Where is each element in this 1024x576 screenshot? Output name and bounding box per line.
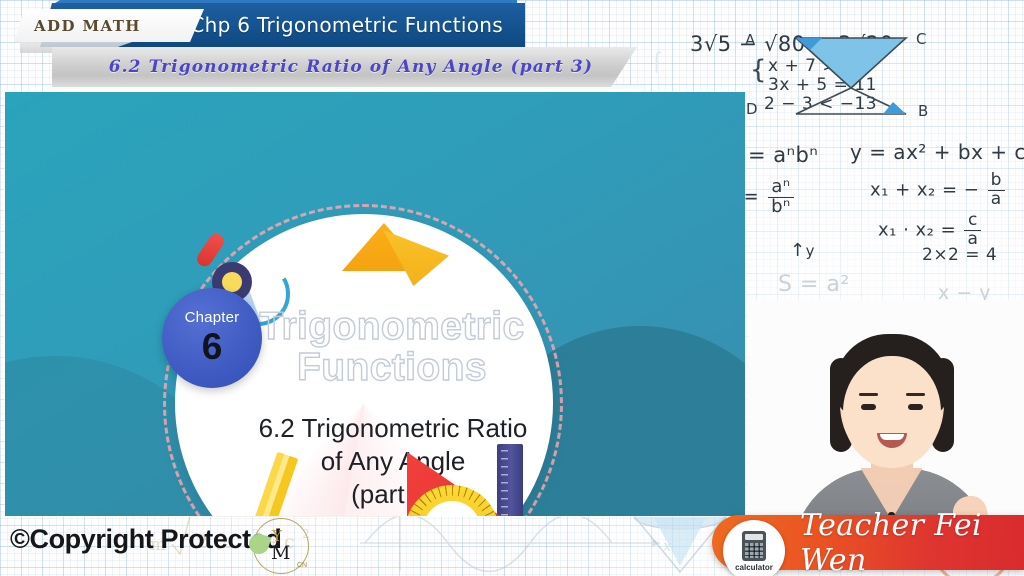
teacher-eye-left xyxy=(861,404,876,410)
logo-sub-text: CN xyxy=(297,562,307,569)
section-banner: 6.2 Trigonometric Ratio of Any Angle (pa… xyxy=(52,47,637,87)
hollow-title-line1: Trigonometric xyxy=(227,307,557,348)
copyright-text: ©Copyright Protected xyxy=(10,524,281,555)
calculator-label: calculator xyxy=(735,563,773,572)
teacher-brow-right xyxy=(906,393,925,396)
header-banners: Chp 6 Trigonometric Functions ADD MATH 6… xyxy=(0,0,700,92)
calculator-badge[interactable]: calculator xyxy=(723,520,785,576)
bg-math-sum-roots: x₁ + x₂ = − b a xyxy=(870,172,1007,209)
calculator-icon xyxy=(742,531,766,561)
teacher-brow-left xyxy=(859,393,878,396)
screen-root: 3√5 − √80 + 3√20 { x + 7 > 6 3x + 5 = 11… xyxy=(0,0,1024,576)
solid-title-line1: 6.2 Trigonometric Ratio xyxy=(213,412,573,445)
triangle-label-b: B xyxy=(918,102,928,120)
section-title: 6.2 Trigonometric Ratio of Any Angle (pa… xyxy=(109,57,593,77)
teacher-eye-right xyxy=(908,404,923,410)
calculator-keys xyxy=(745,543,763,558)
triangle-label-c: C xyxy=(916,30,926,48)
teacher-video-feed[interactable] xyxy=(748,300,1024,532)
triangle-label-d: D xyxy=(746,100,758,118)
ym-logo: Y M CN xyxy=(253,518,309,574)
teacher-name-label: Teacher Fei Wen xyxy=(800,508,1024,576)
triangle-label-a: A xyxy=(745,31,755,49)
slide-hollow-title: Trigonometric Functions xyxy=(227,307,557,388)
chapter-badge-number: 6 xyxy=(202,328,223,365)
teacher-name-badge[interactable]: calculator Teacher Fei Wen xyxy=(712,515,1024,570)
calculator-screen xyxy=(745,534,763,540)
logo-letter-m: M xyxy=(271,542,290,564)
hourglass-triangles-figure xyxy=(788,30,914,122)
bg-math-arith: 2×2 = 4 xyxy=(922,245,997,265)
slide-canvas[interactable]: Chapter 6 Trigonometric Functions 6.2 Tr… xyxy=(5,92,745,516)
subject-tab-label: ADD MATH xyxy=(14,17,141,35)
bg-math-quotient-rule: = aⁿ bⁿ xyxy=(742,178,796,217)
bg-math-y-axis-arrow: ↑y xyxy=(790,240,815,261)
ruler-navy-icon xyxy=(497,444,523,516)
bg-math-quadratic: y = ax² + bx + c xyxy=(850,140,1024,164)
bg-math-area-formula: S = a² xyxy=(778,272,850,297)
bg-math-power-rule: = aⁿbⁿ xyxy=(748,143,818,167)
quotient-den: bⁿ xyxy=(768,198,794,217)
bg-math-product-roots: x₁ · x₂ = c a xyxy=(878,212,983,249)
quotient-num: aⁿ xyxy=(768,178,794,198)
teacher-face xyxy=(843,356,941,468)
bg-math-brace: { xyxy=(750,55,767,85)
hollow-title-line2: Functions xyxy=(227,348,557,389)
subject-tab: ADD MATH xyxy=(14,9,204,42)
